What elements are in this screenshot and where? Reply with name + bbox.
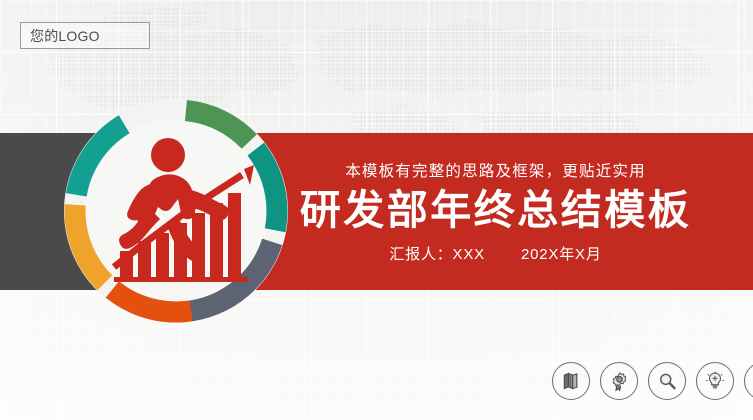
document-review-icon[interactable] [744, 362, 753, 400]
slide-subtitle: 本模板有完整的思路及框架，更贴近实用 [345, 159, 646, 181]
award-medal-icon[interactable] [600, 362, 638, 400]
lightbulb-idea-icon[interactable] [696, 362, 734, 400]
magnifier-icon[interactable] [648, 362, 686, 400]
bottom-icon-strip [552, 362, 753, 400]
chart-baseline [114, 277, 248, 282]
presenter-row: 汇报人：XXX 202X年X月 [389, 243, 601, 264]
books-icon[interactable] [552, 362, 590, 400]
page-title: 研发部年终总结模板 [300, 188, 692, 232]
logo-placeholder-box[interactable]: 您的LOGO [20, 22, 150, 49]
presentation-slide: 您的LOGO 本模板有完整的思路及框架，更贴近实用 研发部年终总结模板 汇报人：… [0, 0, 753, 420]
logo-placeholder-label: 您的LOGO [21, 26, 100, 46]
presentation-date: 202X年X月 [521, 243, 602, 264]
presenter-name: 汇报人：XXX [389, 243, 485, 264]
title-block: 本模板有完整的思路及框架，更贴近实用 研发部年终总结模板 汇报人：XXX 202… [238, 133, 753, 290]
growth-chart-runner-emblem [62, 97, 290, 325]
